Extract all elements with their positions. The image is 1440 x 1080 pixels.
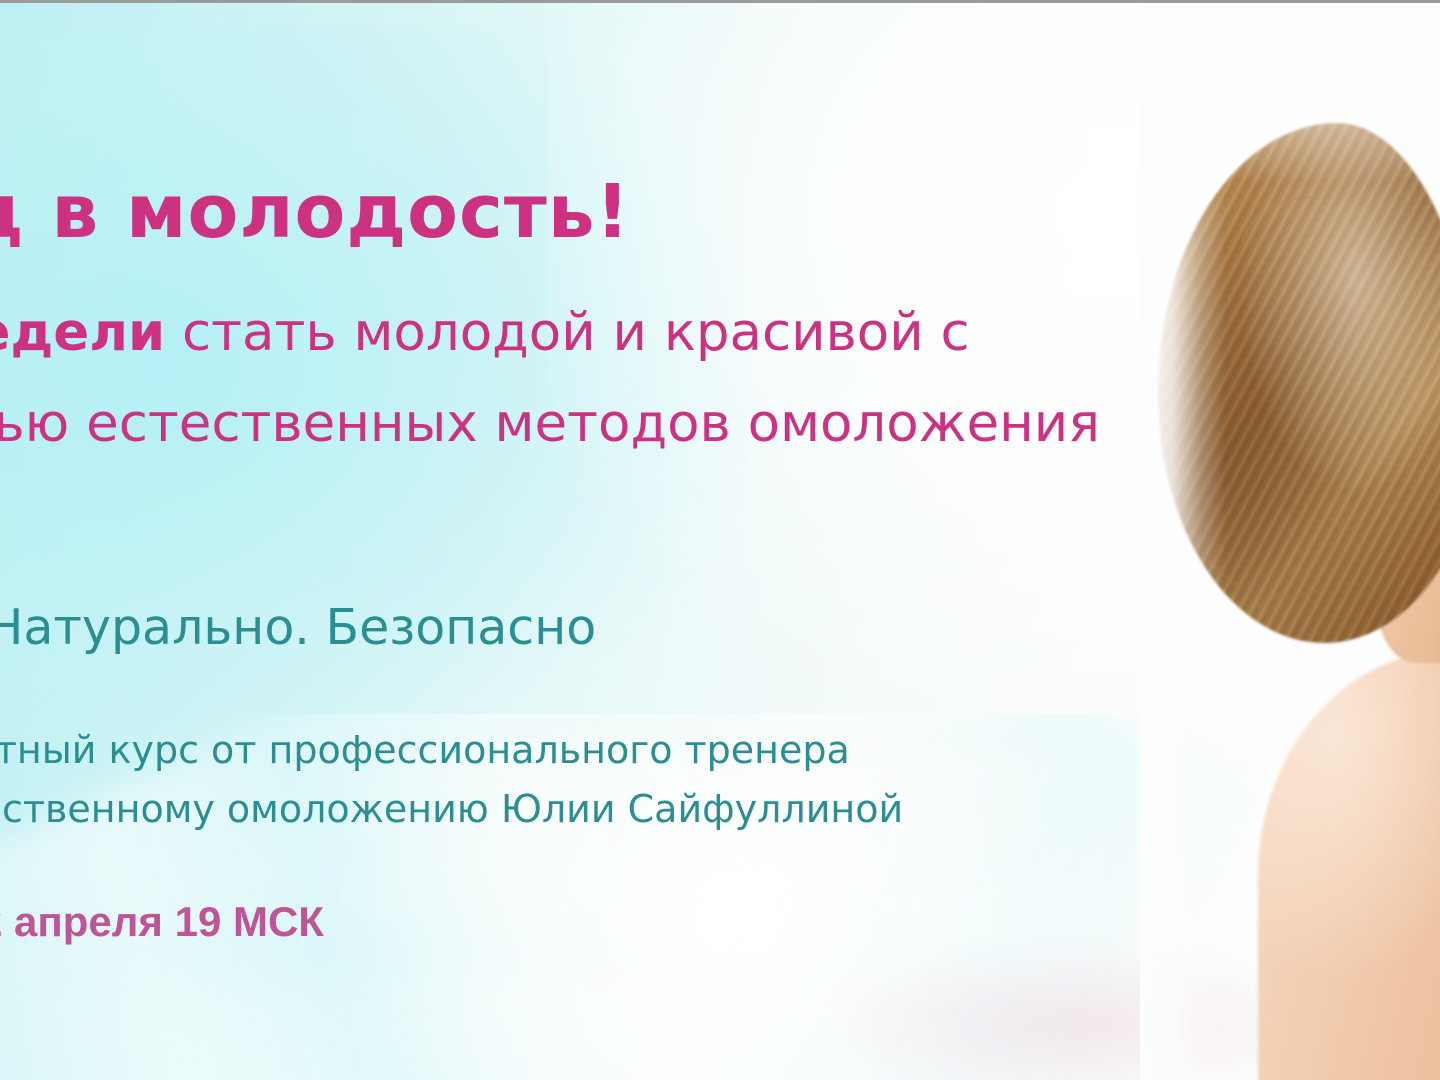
model-shoulder (1258, 651, 1440, 1080)
subhead-rest: стать молодой и красивой с помощью естес… (0, 302, 1100, 454)
byline-line-2: по естественному омоложению Юлии Сайфулл… (0, 780, 1052, 839)
banner-byline: Бесплатный курс от профессионального тре… (0, 721, 1052, 839)
banner-copy: Вперед в молодость! За 2 недели стать мо… (0, 3, 1120, 1080)
subhead-emphasis: недели (0, 302, 165, 363)
byline-line-1: Бесплатный курс от профессионального тре… (0, 721, 1052, 780)
model-photo (1140, 3, 1440, 1080)
model-top-fade (1140, 3, 1440, 183)
banner-headline: Вперед в молодость! (0, 175, 630, 249)
banner-tagline: Просто. Натурально. Безопасно (0, 601, 596, 655)
promo-banner: Вперед в молодость! За 2 недели стать мо… (0, 0, 1440, 1080)
banner-subheadline: За 2 недели стать молодой и красивой с п… (0, 287, 1134, 469)
banner-start-datetime: Старт 12 апреля 19 МСК (0, 899, 324, 945)
